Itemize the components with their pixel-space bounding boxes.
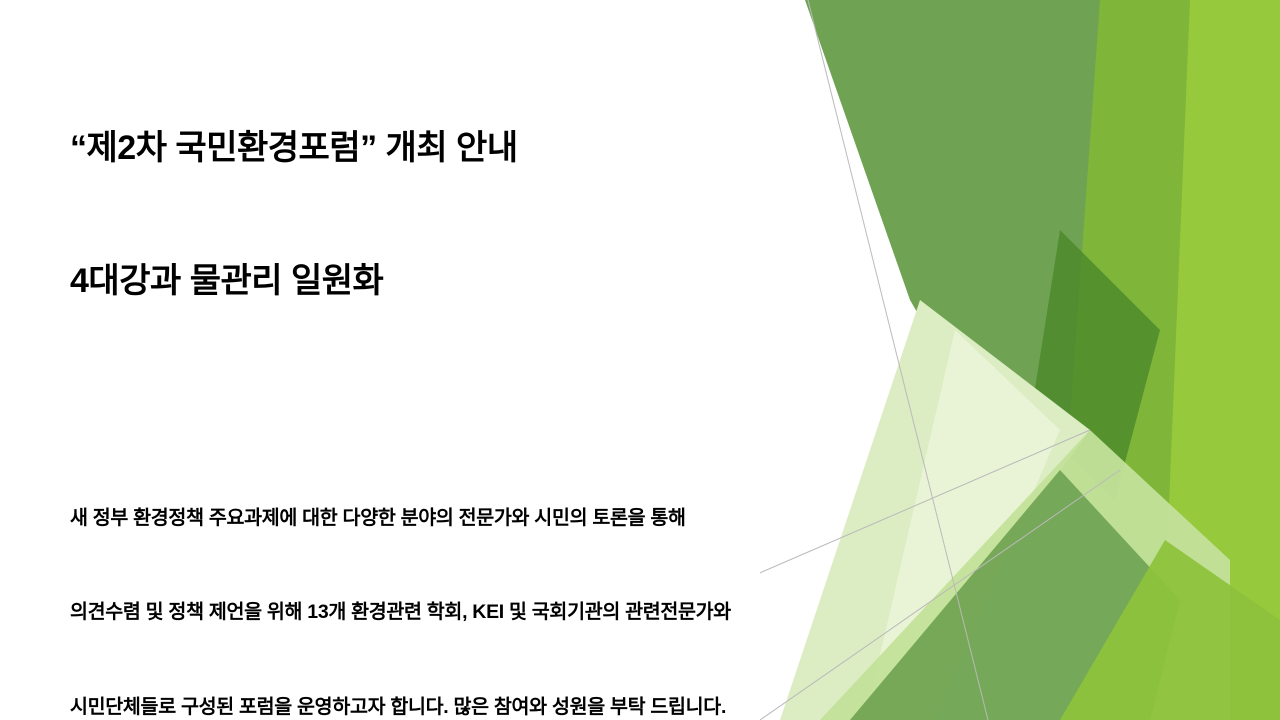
facet-shape-dark [1030, 230, 1160, 500]
slide-canvas: “제2차 국민환경포럼” 개최 안내 4대강과 물관리 일원화 새 정부 환경정… [0, 0, 1280, 720]
intro-line-1: 새 정부 환경정책 주요과제에 대한 다양한 분야의 전문가와 시민의 토론을 … [70, 503, 950, 535]
title-line-1: “제2차 국민환경포럼” 개최 안내 [70, 126, 950, 170]
intro-paragraph: 새 정부 환경정책 주요과제에 대한 다양한 분야의 전문가와 시민의 토론을 … [70, 440, 950, 720]
slide-content: “제2차 국민환경포럼” 개최 안내 4대강과 물관리 일원화 새 정부 환경정… [70, 38, 950, 720]
facet-shape-bright [1010, 0, 1190, 720]
facet-shape-light-right [1090, 0, 1280, 720]
intro-line-3: 시민단체들로 구성된 포럼을 운영하고자 합니다. 많은 참여와 성원을 부탁 … [70, 692, 950, 720]
facet-shape-bright-bottom [1060, 540, 1280, 720]
title-line-2: 4대강과 물관리 일원화 [70, 259, 950, 303]
page-title: “제2차 국민환경포럼” 개최 안내 4대강과 물관리 일원화 [70, 38, 950, 392]
intro-line-2: 의견수렴 및 정책 제언을 위해 13개 환경관련 학회, KEI 및 국회기관… [70, 597, 950, 629]
